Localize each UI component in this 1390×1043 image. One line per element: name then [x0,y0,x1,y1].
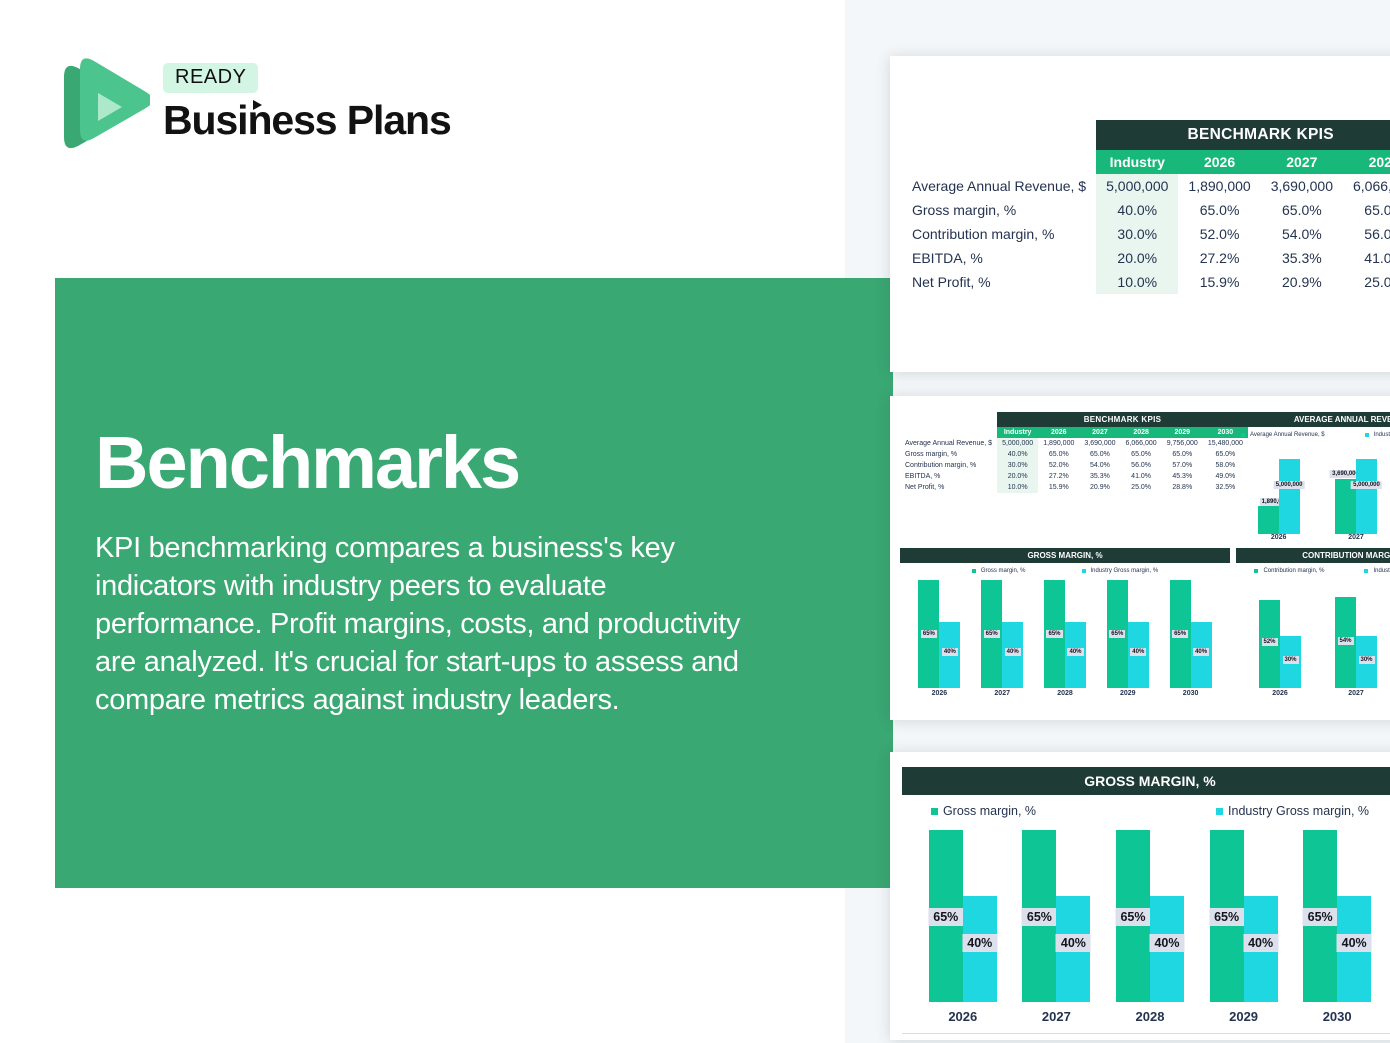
bar-value-label: 40% [1149,934,1184,952]
hero-green-panel: Benchmarks KPI benchmarking compares a b… [55,278,893,888]
legend-label: Industry Gross margin, % [1091,568,1159,574]
cell-value: 20.0% [1096,246,1178,270]
bar-industry: 40% [1191,622,1212,688]
legend-label: Industry Contribution margin, % [1373,568,1390,574]
axis-tick-label: 2026 [1271,534,1287,541]
contribution-margin-chart: CONTRIBUTION MARGIN, % Contribution marg… [1236,548,1390,708]
axis-tick-label: 2027 [1042,1009,1071,1024]
benchmark-kpis-table: BENCHMARK KPIS Industry 2026 2027 2028 A… [902,120,1390,294]
col-header-2029: 2029 [1162,427,1203,438]
cell-value: 52.0% [1178,222,1260,246]
row-label: Net Profit, % [900,482,997,493]
cell-value: 54.0% [1261,222,1343,246]
axis-tick-label: 2030 [1323,1009,1352,1024]
bar-industry: 40% [1244,896,1278,1002]
ready-badge: READY [163,63,258,93]
cell-value: 15.9% [1178,270,1260,294]
legend-label: Industry Gross margin, % [1228,804,1369,818]
table-row: Gross margin, % 40.0% 65.0% 65.0% 65.0% [902,198,1390,222]
cell-value: 40.0% [997,449,1038,460]
page-description: KPI benchmarking compares a business's k… [95,530,755,720]
cell-value: 27.2% [1178,246,1260,270]
cell-value: 65.0% [1261,198,1343,222]
row-label: Gross margin, % [902,198,1096,222]
bar-industry: 30% [1280,636,1301,688]
bar-value-label: 65% [1303,908,1338,926]
legend-swatch-icon [1241,433,1245,437]
cell-value: 5,000,000 [1096,174,1178,198]
axis-tick-label: 2027 [1348,690,1364,697]
col-header-2026: 2026 [1038,427,1079,438]
bar-value-label: 40% [1130,648,1146,656]
col-header-2027: 2027 [1261,150,1343,174]
bar-value-label: 40% [1056,934,1091,952]
bar-group: 65% 40% [1210,830,1278,1002]
table-row: Gross margin, % 40.0% 65.0% 65.0% 65.0% … [900,449,1248,460]
bar-value-label: 54% [1337,637,1353,645]
col-header-2028: 2028 [1121,427,1162,438]
bar-company: 65% [1210,830,1244,1002]
cell-value: 3,690,000 [1079,438,1120,449]
gross-margin-card-bottom: GROSS MARGIN, % Gross margin, % Industry… [890,752,1390,1040]
cell-value: 5,000,000 [997,438,1038,449]
bar-company: 52% [1259,600,1280,688]
col-header-industry: Industry [1096,150,1178,174]
axis-tick-label: 2026 [948,1009,977,1024]
legend-swatch-icon [1082,569,1086,573]
play-accent-icon [253,100,262,110]
cell-value: 65.0% [1343,198,1390,222]
row-label: Average Annual Revenue, $ [900,438,997,449]
bar-value-label: 40% [1005,648,1021,656]
table-banner-row: BENCHMARK KPIS [902,120,1390,150]
row-label: Gross margin, % [900,449,997,460]
cell-value: 65.0% [1079,449,1120,460]
cell-value: 40.0% [1096,198,1178,222]
col-header-industry: Industry [997,427,1038,438]
legend-label: Gross margin, % [981,568,1026,574]
cell-value: 20.0% [997,471,1038,482]
axis-tick-label: 2028 [1057,690,1073,697]
table-row: EBITDA, % 20.0% 27.2% 35.3% 41.0% [902,246,1390,270]
chart-legend: Gross margin, % Industry Gross margin, % [902,804,1390,818]
bar-company: 65% [1303,830,1337,1002]
row-label: Net Profit, % [902,270,1096,294]
axis-tick-label: 2029 [1229,1009,1258,1024]
table-header-row: Industry 2026 2027 2028 2029 2030 [900,427,1248,438]
bar-value-label: 65% [921,630,937,638]
bar-company: 65% [1022,830,1056,1002]
chart-plot-area: 1,890,000 5,000,000 3,690,000 5,000,000 [1236,442,1390,534]
bar-group: 52% 30% [1259,600,1301,688]
cell-value: 10.0% [1096,270,1178,294]
legend-swatch-icon [931,808,938,815]
cell-value: 28.8% [1162,482,1203,493]
legend-swatch-icon [1365,433,1369,437]
legend-swatch-icon [1254,569,1258,573]
bar-industry: 40% [963,896,997,1002]
legend-label: Gross margin, % [943,804,1036,818]
bar-group: 65% 40% [1044,580,1086,688]
table-row: Average Annual Revenue, $ 5,000,000 1,89… [902,174,1390,198]
legend-item-company: Gross margin, % [972,568,1026,574]
table-row: Contribution margin, % 30.0% 52.0% 54.0%… [900,460,1248,471]
legend-item-company: Average Annual Revenue, $ [1241,432,1325,438]
chart-x-axis: 2026 2027 2028 [1236,534,1390,541]
legend-item-company: Gross margin, % [931,804,1036,818]
table-row: Net Profit, % 10.0% 15.9% 20.9% 25.0% 28… [900,482,1248,493]
bar-company: 65% [918,580,939,688]
cell-value: 54.0% [1079,460,1120,471]
legend-item-industry: Industry Contribution margin, % [1364,568,1390,574]
bar-value-label: 40% [1337,934,1372,952]
legend-item-industry: Industry Average Annual Revenue, $ [1365,432,1390,438]
cell-value: 45.3% [1162,471,1203,482]
bar-company: 65% [1044,580,1065,688]
bar-industry: 40% [1002,622,1023,688]
benchmark-dashboard-card-mid: BENCHMARK KPIS Industry 2026 2027 2028 2… [890,396,1390,720]
bar-value-label: 40% [1243,934,1278,952]
chart-plot-area: 52% 30% 54% 30% 56% [1236,578,1390,688]
chart-legend: Contribution margin, % Industry Contribu… [1236,568,1390,574]
cell-value: 65.0% [1038,449,1079,460]
row-label: EBITDA, % [900,471,997,482]
bar-company: 65% [1107,580,1128,688]
chart-x-axis: 2026 2027 2028 2029 2030 [900,690,1230,697]
gross-margin-chart-mid: GROSS MARGIN, % Gross margin, % Industry… [900,548,1230,708]
bar-value-label: 30% [1282,656,1298,664]
bar-value-label: 40% [1193,648,1209,656]
cell-value: 30.0% [1096,222,1178,246]
chart-title: GROSS MARGIN, % [900,548,1230,563]
legend-item-industry: Industry Gross margin, % [1082,568,1159,574]
cell-value: 15.9% [1038,482,1079,493]
chart-x-axis: 2026 2027 2028 2029 2030 [902,1009,1390,1024]
legend-label: Average Annual Revenue, $ [1250,432,1325,438]
bar-industry: 40% [1065,622,1086,688]
bar-value-label: 52% [1261,638,1277,646]
play-triangle-logo-icon [58,55,150,150]
cell-value: 65.0% [1121,449,1162,460]
cell-value: 30.0% [997,460,1038,471]
chart-title: CONTRIBUTION MARGIN, % [1236,548,1390,563]
legend-label: Contribution margin, % [1263,568,1324,574]
axis-tick-label: 2030 [1183,690,1199,697]
legend-item-industry: Industry Gross margin, % [1216,804,1369,818]
bar-company: 1,890,000 [1258,506,1279,534]
bar-group: 65% 40% [1022,830,1090,1002]
cell-value: 6,066,000 [1343,174,1390,198]
bar-group: 3,690,000 5,000,000 [1335,459,1377,534]
bar-value-label: 40% [1067,648,1083,656]
chart-plot-area: 65% 40% 65% 40% 65% [900,578,1230,688]
bar-industry: 30% [1356,636,1377,688]
bar-value-label: 5,000,000 [1351,481,1382,489]
cell-value: 10.0% [997,482,1038,493]
bar-group: 65% 40% [981,580,1023,688]
axis-tick-label: 2029 [1120,690,1136,697]
chart-legend: Average Annual Revenue, $ Industry Avera… [1236,432,1390,438]
legend-swatch-icon [1216,808,1223,815]
bar-group: 65% 40% [929,830,997,1002]
bar-group: 65% 40% [1170,580,1212,688]
bar-value-label: 65% [928,908,963,926]
bar-industry: 40% [1056,896,1090,1002]
bar-value-label: 65% [984,630,1000,638]
brand-logo: READY Business Plans [58,55,438,155]
axis-tick-label: 2027 [994,690,1010,697]
legend-label: Industry Average Annual Revenue, $ [1374,432,1390,438]
brand-name-label: Business Plans [163,97,451,143]
bar-company: 54% [1335,597,1356,688]
brand-logo-text: READY Business Plans [163,63,451,144]
chart-legend: Gross margin, % Industry Gross margin, % [900,568,1230,574]
bar-industry: 40% [939,622,960,688]
cell-value: 20.9% [1261,270,1343,294]
bar-company: 65% [929,830,963,1002]
bar-group: 65% 40% [1303,830,1371,1002]
bar-value-label: 5,000,000 [1274,481,1305,489]
table-row: Net Profit, % 10.0% 15.9% 20.9% 25.0% [902,270,1390,294]
cell-value: 27.2% [1038,471,1079,482]
chart-title: AVERAGE ANNUAL REVENUE, $ [1236,412,1390,427]
bar-company: 65% [1116,830,1150,1002]
bar-industry: 40% [1128,622,1149,688]
table-title: BENCHMARK KPIS [1096,120,1390,150]
cell-value: 1,890,000 [1178,174,1260,198]
cell-value: 41.0% [1343,246,1390,270]
bar-value-label: 65% [1022,908,1057,926]
slide-canvas: READY Business Plans Benchmarks KPI benc… [0,0,1390,1043]
chart-axis-line [902,1033,1390,1034]
cell-value: 52.0% [1038,460,1079,471]
average-annual-revenue-chart: AVERAGE ANNUAL REVENUE, $ Average Annual… [1236,412,1390,562]
table-row: EBITDA, % 20.0% 27.2% 35.3% 41.0% 45.3% … [900,471,1248,482]
col-header-2028: 2028 [1343,150,1390,174]
legend-item-company: Contribution margin, % [1254,568,1324,574]
row-label: Contribution margin, % [900,460,997,471]
cell-value: 1,890,000 [1038,438,1079,449]
bar-value-label: 30% [1358,656,1374,664]
legend-swatch-icon [1364,569,1368,573]
axis-tick-label: 2026 [1272,690,1288,697]
bar-value-label: 65% [1172,630,1188,638]
table-header-row: Industry 2026 2027 2028 [902,150,1390,174]
bar-industry: 5,000,000 [1356,459,1377,534]
benchmark-kpis-card-top: BENCHMARK KPIS Industry 2026 2027 2028 A… [890,56,1390,372]
bar-group: 54% 30% [1335,597,1377,688]
bar-value-label: 65% [1209,908,1244,926]
row-label: EBITDA, % [902,246,1096,270]
chart-plot-area: 65% 40% 65% 40% 65% [902,830,1390,1002]
chart-title: GROSS MARGIN, % [902,767,1390,795]
bar-company: 65% [981,580,1002,688]
table-row: Contribution margin, % 30.0% 52.0% 54.0%… [902,222,1390,246]
cell-value: 35.3% [1079,471,1120,482]
cell-value: 9,756,000 [1162,438,1203,449]
benchmark-kpis-table-small: BENCHMARK KPIS Industry 2026 2027 2028 2… [900,412,1248,493]
legend-swatch-icon [972,569,976,573]
chart-x-axis: 2026 2027 2028 [1236,690,1390,697]
col-header-2026: 2026 [1178,150,1260,174]
bar-value-label: 40% [942,648,958,656]
bar-industry: 5,000,000 [1279,459,1300,534]
axis-tick-label: 2027 [1348,534,1364,541]
bar-industry: 40% [1337,896,1371,1002]
cell-value: 65.0% [1162,449,1203,460]
page-title: Benchmarks [95,426,519,500]
brand-name: Business Plans [163,97,451,144]
bar-group: 65% 40% [1107,580,1149,688]
row-label: Average Annual Revenue, $ [902,174,1096,198]
cell-value: 6,066,000 [1121,438,1162,449]
cell-value: 20.9% [1079,482,1120,493]
cell-value: 3,690,000 [1261,174,1343,198]
table-banner-row: BENCHMARK KPIS [900,412,1248,427]
table-row: Average Annual Revenue, $ 5,000,000 1,89… [900,438,1248,449]
bar-group: 65% 40% [918,580,960,688]
col-header-2027: 2027 [1079,427,1120,438]
bar-industry: 40% [1150,896,1184,1002]
cell-value: 25.0% [1121,482,1162,493]
bar-group: 1,890,000 5,000,000 [1258,459,1300,534]
axis-tick-label: 2026 [932,690,948,697]
cell-value: 41.0% [1121,471,1162,482]
row-label: Contribution margin, % [902,222,1096,246]
bar-value-label: 65% [1046,630,1062,638]
bar-value-label: 65% [1115,908,1150,926]
cell-value: 35.3% [1261,246,1343,270]
cell-value: 56.0% [1343,222,1390,246]
bar-value-label: 40% [962,934,997,952]
cell-value: 65.0% [1178,198,1260,222]
bar-company: 65% [1170,580,1191,688]
bar-value-label: 65% [1109,630,1125,638]
cell-value: 25.0% [1343,270,1390,294]
cell-value: 56.0% [1121,460,1162,471]
axis-tick-label: 2028 [1136,1009,1165,1024]
cell-value: 57.0% [1162,460,1203,471]
table-title: BENCHMARK KPIS [997,412,1248,427]
bar-group: 65% 40% [1116,830,1184,1002]
